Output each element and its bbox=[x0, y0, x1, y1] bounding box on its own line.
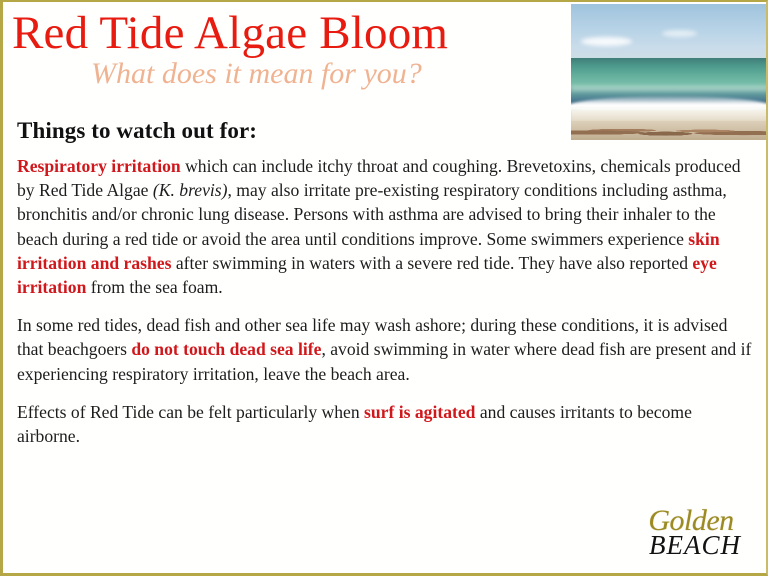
paragraph-surf-agitated: Effects of Red Tide can be felt particul… bbox=[17, 400, 757, 448]
paragraph-list: Respiratory irritation which can include… bbox=[17, 154, 759, 448]
slide-canvas: Red Tide Algae Bloom What does it mean f… bbox=[0, 0, 768, 576]
highlighted-term: surf is agitated bbox=[364, 402, 475, 422]
body-text: from the sea foam. bbox=[86, 277, 222, 297]
photo-foam-line bbox=[571, 86, 768, 91]
photo-cloud-icon bbox=[581, 37, 632, 47]
highlighted-term: do not touch dead sea life bbox=[131, 339, 321, 359]
page-title: Red Tide Algae Bloom bbox=[12, 6, 448, 60]
golden-beach-logo: Golden BEACH bbox=[624, 505, 750, 561]
paragraph-respiratory: Respiratory irritation which can include… bbox=[17, 154, 757, 299]
slide-header: Red Tide Algae Bloom What does it mean f… bbox=[3, 2, 569, 114]
body-text: after swimming in waters with a severe r… bbox=[171, 253, 692, 273]
logo-word-beach: BEACH bbox=[636, 530, 754, 560]
photo-cloud-icon bbox=[662, 30, 697, 37]
species-name: (K. brevis) bbox=[153, 180, 228, 200]
highlighted-term: Respiratory irritation bbox=[17, 156, 181, 176]
main-content: Things to watch out for: Respiratory irr… bbox=[17, 116, 759, 448]
section-heading: Things to watch out for: bbox=[17, 116, 759, 146]
page-subtitle: What does it mean for you? bbox=[91, 56, 422, 92]
body-text: Effects of Red Tide can be felt particul… bbox=[17, 402, 364, 422]
paragraph-dead-sea-life: In some red tides, dead fish and other s… bbox=[17, 313, 757, 386]
